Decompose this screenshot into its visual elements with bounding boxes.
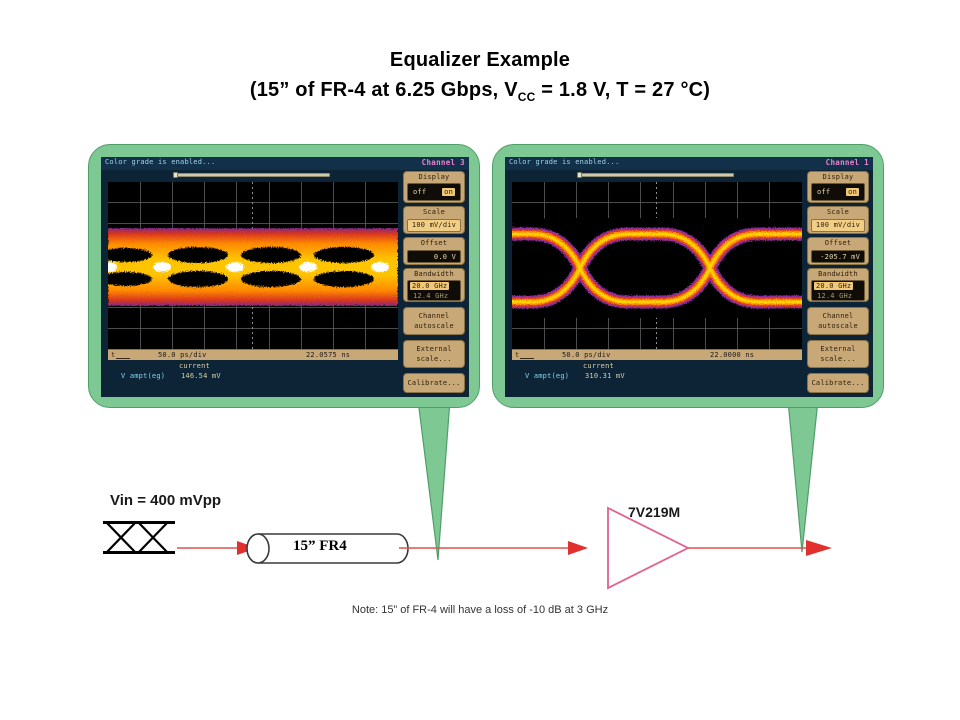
measurement-header-right: current [583,362,614,370]
color-grade-progress-right[interactable] [579,173,734,177]
bandwidth-button-left[interactable]: Bandwidth 20.0 GHz 12.4 GHz [403,268,465,302]
fr4-trace-label: 15” FR4 [293,538,347,555]
autoscale-line-2-right: autoscale [808,322,868,330]
bandwidth-value-right[interactable]: 20.0 GHz [814,282,853,290]
bandwidth-label-left: Bandwidth [404,270,464,278]
scale-button-left[interactable]: Scale 100 mV/div [403,206,465,234]
bandwidth-field-left[interactable]: 20.0 GHz 12.4 GHz [407,280,461,301]
offset-label-left: Offset [404,239,464,247]
title-line-2-part-a: (15” of FR-4 at 6.25 Gbps, V [250,79,518,101]
color-grade-slider-knob-right[interactable] [577,172,582,178]
measurement-name-right: V ampt(eg) [525,372,569,380]
autoscale-line-2-left: autoscale [404,322,464,330]
timebase-marker-right: t [515,351,519,359]
scope-menu-left: Display off on Scale 100 mV/div Offset 0… [403,171,465,393]
title-line-2: (15” of FR-4 at 6.25 Gbps, VCC = 1.8 V, … [0,78,960,105]
offset-button-right[interactable]: Offset -205.7 mV [807,237,869,265]
bandwidth-button-right[interactable]: Bandwidth 20.0 GHz 12.4 GHz [807,268,869,302]
scope-menu-right: Display off on Scale 100 mV/div Offset -… [807,171,869,393]
bandwidth-alt-value-right: 12.4 GHz [817,292,852,300]
scale-value-right[interactable]: 100 mV/div [811,219,865,232]
external-scale-line-1-right: External [808,345,868,353]
offset-value-left: 0.0 V [434,253,456,261]
external-scale-line-1-left: External [404,345,464,353]
display-label-left: Display [404,173,464,181]
amplifier-triangle [608,508,688,588]
oscilloscope-screen-left[interactable]: Color grade is enabled... Channel 3 [101,157,469,397]
bandwidth-field-right[interactable]: 20.0 GHz 12.4 GHz [811,280,865,301]
bandwidth-alt-value-left: 12.4 GHz [413,292,448,300]
bandwidth-value-left[interactable]: 20.0 GHz [410,282,449,290]
timebase-bar-right: t 50.0 ps/div 22.0000 ns [512,349,802,360]
eye-diagram-left [108,228,398,306]
offset-button-left[interactable]: Offset 0.0 V [403,237,465,265]
timebase-value-right: 50.0 ps/div [562,351,611,359]
footnote: Note: 15” of FR-4 will have a loss of -1… [0,604,960,616]
offset-field-right[interactable]: -205.7 mV [811,250,865,263]
callout-bubble-left: Color grade is enabled... Channel 3 [88,144,480,408]
display-toggle-left[interactable]: off on [407,183,461,201]
page-title: Equalizer Example (15” of FR-4 at 6.25 G… [0,48,960,105]
display-on-option-right[interactable]: on [846,188,859,196]
measurement-value-right: 310.31 mV [585,372,625,380]
display-label-right: Display [808,173,868,181]
channel-autoscale-button-right[interactable]: Channel autoscale [807,307,869,335]
scope-status-text-left: Color grade is enabled... [105,158,215,166]
measurement-header-left: current [179,362,210,370]
measurement-value-left: 146.54 mV [181,372,221,380]
display-toggle-right[interactable]: off on [811,183,865,201]
external-scale-button-right[interactable]: External scale... [807,340,869,368]
channel-autoscale-button-left[interactable]: Channel autoscale [403,307,465,335]
amplifier-label: 7V219M [628,504,680,520]
timebase-bar-left: t 50.0 ps/div 22.0575 ns [108,349,398,360]
eye-diagram-right [512,218,802,318]
color-grade-progress-left[interactable] [175,173,330,177]
calibrate-button-left[interactable]: Calibrate... [403,373,465,393]
display-off-option-left[interactable]: off [413,188,426,196]
timebase-marker-underline-left [116,358,130,359]
timebase-marker-underline-right [520,358,534,359]
time-position-left: 22.0575 ns [306,351,350,359]
scale-label-left: Scale [404,208,464,216]
display-button-left[interactable]: Display off on [403,171,465,203]
channel-label-left: Channel 3 [422,158,465,167]
display-on-option-left[interactable]: on [442,188,455,196]
color-grade-slider-knob-left[interactable] [173,172,178,178]
time-position-right: 22.0000 ns [710,351,754,359]
channel-label-right: Channel 1 [826,158,869,167]
calibrate-label-right: Calibrate... [808,379,868,387]
timebase-value-left: 50.0 ps/div [158,351,207,359]
scale-button-right[interactable]: Scale 100 mV/div [807,206,869,234]
external-scale-line-2-right: scale... [808,355,868,363]
signal-path-svg [0,470,960,610]
external-scale-button-left[interactable]: External scale... [403,340,465,368]
autoscale-line-1-right: Channel [808,312,868,320]
scale-label-right: Scale [808,208,868,216]
calibrate-button-right[interactable]: Calibrate... [807,373,869,393]
title-line-1: Equalizer Example [0,48,960,74]
callout-bubble-right: Color grade is enabled... Channel 1 [492,144,884,408]
timebase-marker-left: t [111,351,115,359]
calibrate-label-left: Calibrate... [404,379,464,387]
graticule-right [512,182,802,349]
scope-status-text-right: Color grade is enabled... [509,158,619,166]
autoscale-line-1-left: Channel [404,312,464,320]
slide-root: Equalizer Example (15” of FR-4 at 6.25 G… [0,0,960,720]
title-vcc-subscript: CC [518,90,536,104]
offset-label-right: Offset [808,239,868,247]
offset-value-right: -205.7 mV [820,253,860,261]
display-button-right[interactable]: Display off on [807,171,869,203]
oscilloscope-screen-right[interactable]: Color grade is enabled... Channel 1 [505,157,873,397]
external-scale-line-2-left: scale... [404,355,464,363]
offset-field-left[interactable]: 0.0 V [407,250,461,263]
graticule-left [108,182,398,349]
bandwidth-label-right: Bandwidth [808,270,868,278]
block-diagram: Vin = 400 mVpp [0,470,960,610]
title-line-2-part-b: = 1.8 V, T = 27 °C) [535,79,710,101]
display-off-option-right[interactable]: off [817,188,830,196]
measurement-name-left: V ampt(eg) [121,372,165,380]
scale-value-left[interactable]: 100 mV/div [407,219,461,232]
